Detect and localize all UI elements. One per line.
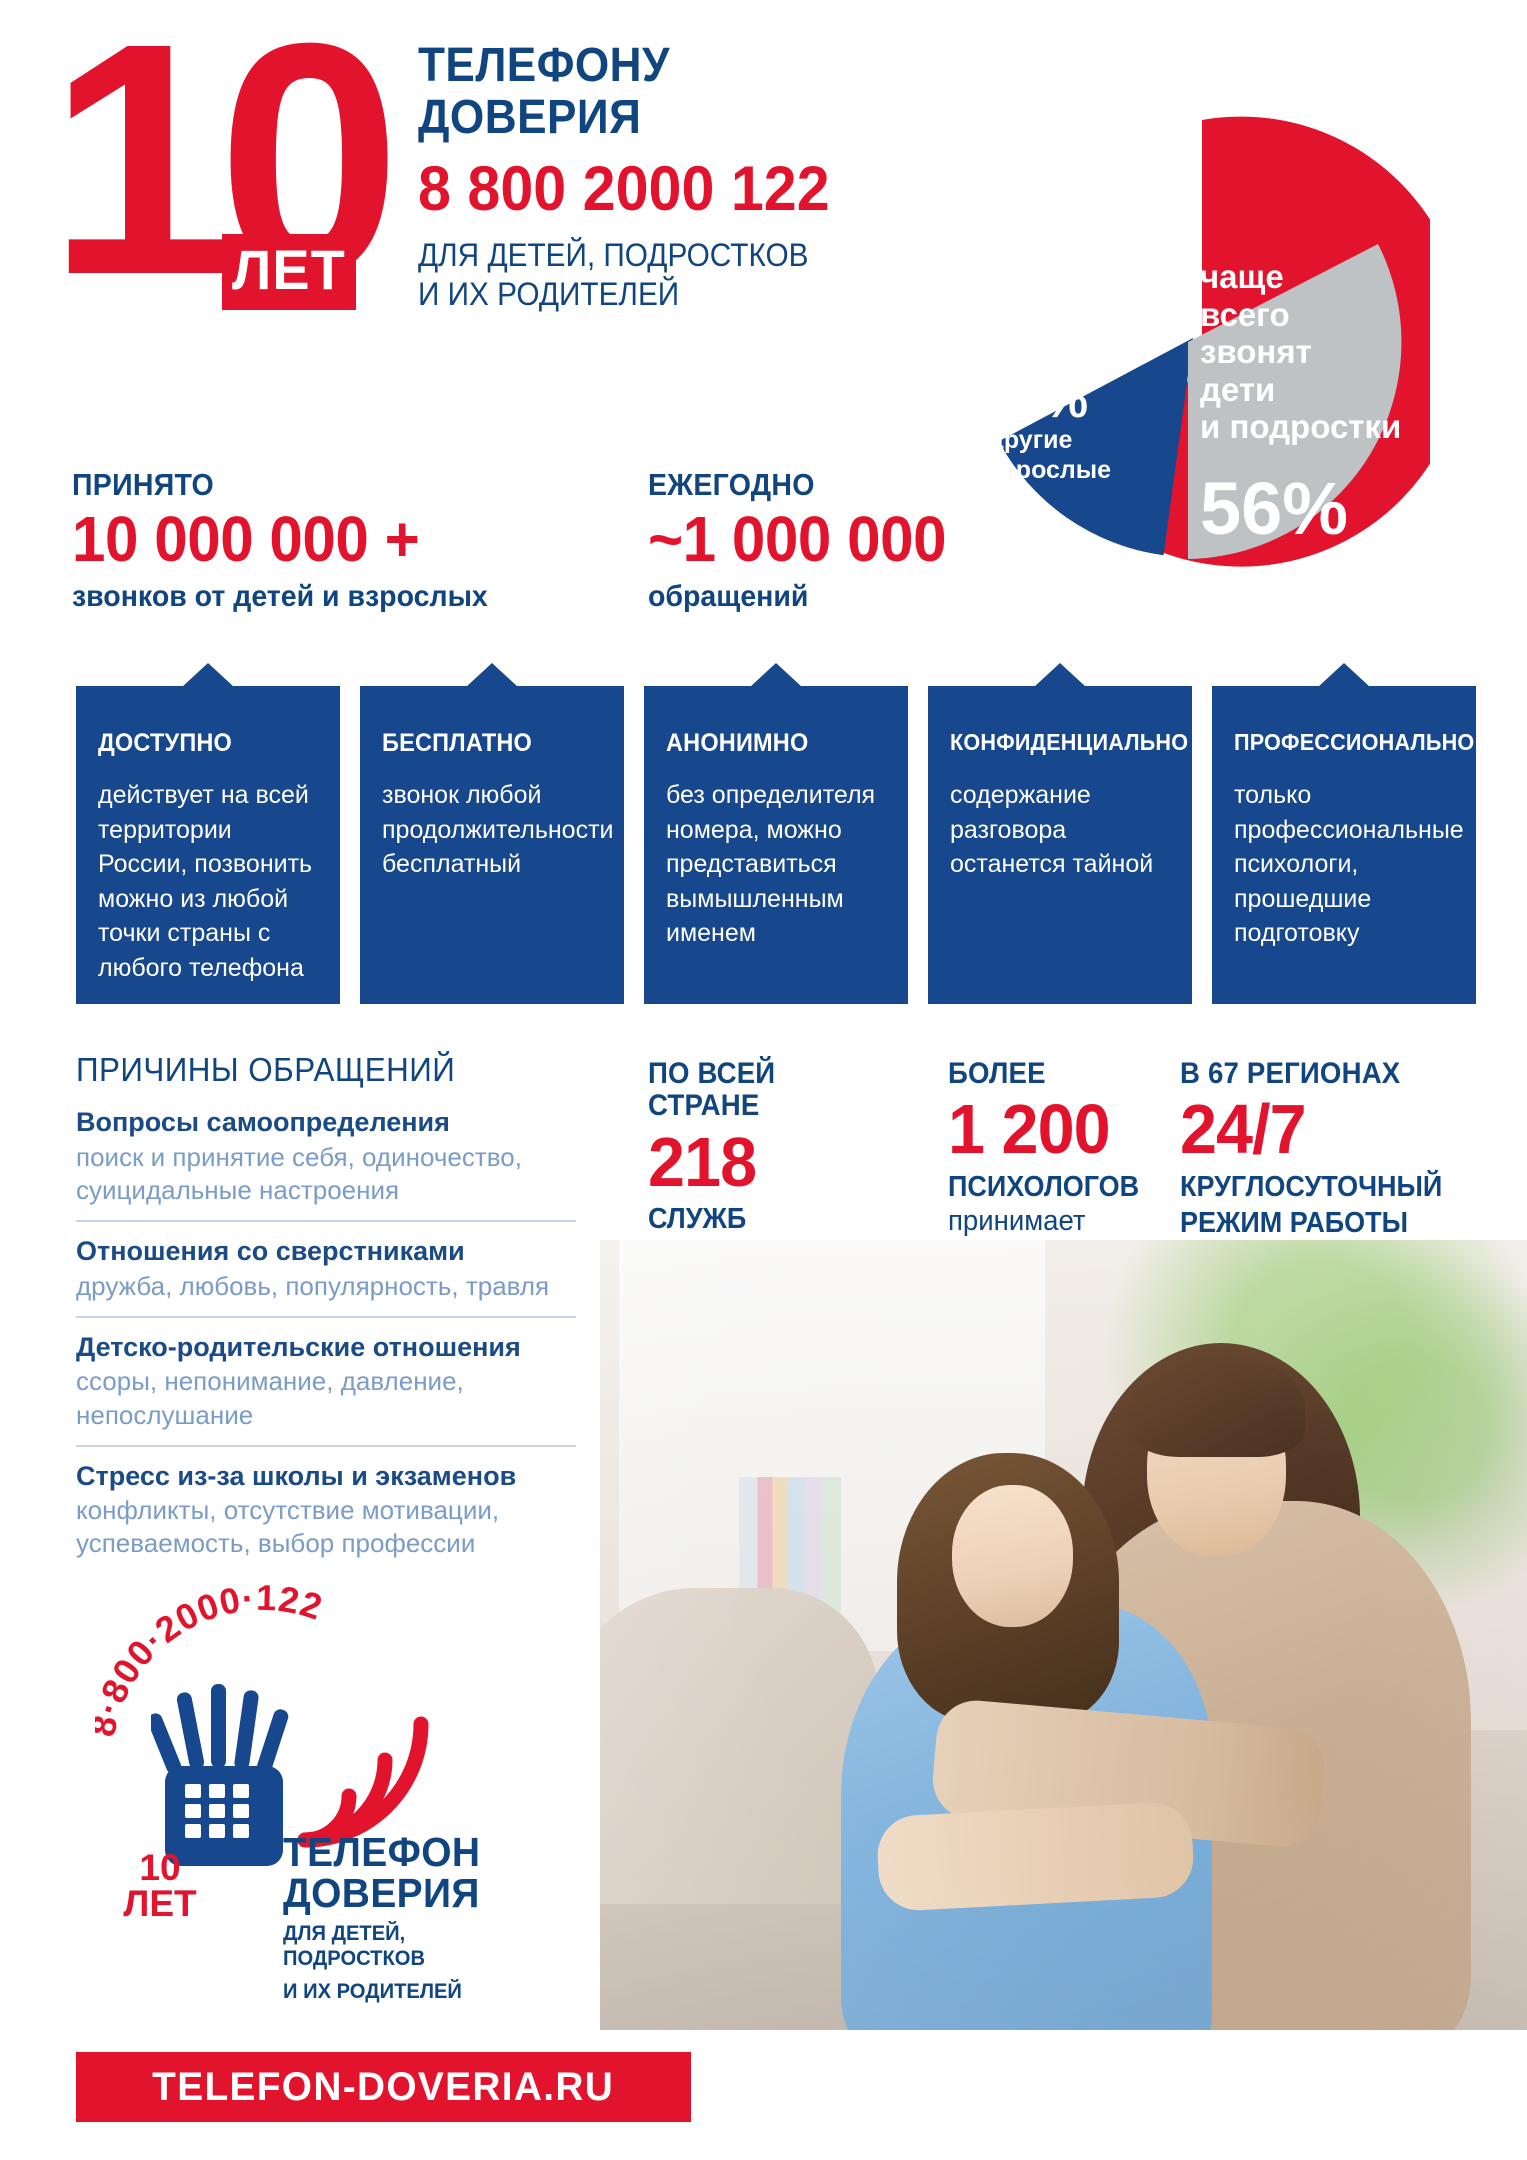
country-stat-availability: В 67 РЕГИОНАХ 24/7 КРУГЛОСУТОЧНЫЙ РЕЖИМ … <box>1180 1058 1470 1240</box>
feature-box-free: БЕСПЛАТНО звонок любой продолжительности… <box>360 686 624 1004</box>
reason-heading: Отношения со сверстниками <box>76 1235 576 1267</box>
pie-label-children-percent: 56% <box>1200 472 1401 546</box>
reason-heading: Стресс из-за школы и экзаменов <box>76 1460 576 1492</box>
country-stat-label: В 67 РЕГИОНАХ <box>1180 1058 1447 1090</box>
pie-label-children: чаще всего звонят дети и подростки 56% <box>1200 258 1401 546</box>
feature-title: БЕСПЛАТНО <box>382 730 596 758</box>
logo-anniversary-number: 10 <box>105 1850 215 1886</box>
stat-annual-requests-note: обращений <box>648 580 962 614</box>
country-stat-unit: СЛУЖБ <box>648 1202 890 1236</box>
logo-wordmark: ТЕЛЕФОН ДОВЕРИЯ ДЛЯ ДЕТЕЙ, ПОДРОСТКОВ И … <box>283 1832 523 2004</box>
list-item: Отношения со сверстниками дружба, любовь… <box>76 1220 576 1316</box>
feature-box-available: ДОСТУПНО действует на всей территории Ро… <box>76 686 340 1004</box>
pie-label-other-adults-percent: 27% <box>988 375 1111 425</box>
feature-title: АНОНИМНО <box>666 730 880 758</box>
pie-caption-line1: чаще <box>1200 258 1401 296</box>
feature-body: звонок любой продолжительности бесплатны… <box>382 778 606 882</box>
pie-caption-line2: всего <box>1200 296 1401 334</box>
pie-label-parents-percent: 17% <box>1040 218 1159 257</box>
feature-body: действует на всей территории России, поз… <box>98 778 322 985</box>
logo-tagline-line2: И ИХ РОДИТЕЛЕЙ <box>283 1980 513 2005</box>
country-stat-value: 24/7 <box>1180 1092 1456 1168</box>
reason-heading: Вопросы самоопределения <box>76 1106 576 1138</box>
logo-anniversary-badge: 10 ЛЕТ <box>105 1850 215 1923</box>
trust-line-logo: 8·800·2000·122 <box>95 1570 515 1970</box>
feature-box-confidential: КОНФИДЕНЦИАЛЬНО содержание разговора ост… <box>928 686 1192 1004</box>
country-stat-unit: КРУГЛОСУТОЧНЫЙ <box>1180 1170 1450 1204</box>
reason-heading: Детско-родительские отношения <box>76 1331 576 1363</box>
feature-title: ДОСТУПНО <box>98 730 312 758</box>
feature-body: только профессиональные психологи, проше… <box>1234 778 1458 951</box>
country-stat-detail-line1: РЕЖИМ РАБОТЫ <box>1180 1206 1450 1240</box>
country-stat-unit: ПСИХОЛОГОВ <box>948 1170 1162 1204</box>
website-url-text: TELEFON-DOVERIA.RU <box>152 2065 614 2110</box>
pie-label-other-adults: 27% другие взрослые <box>988 375 1111 484</box>
feature-body: содержание разговора останется тайной <box>950 778 1174 882</box>
logo-tagline-line1: ДЛЯ ДЕТЕЙ, ПОДРОСТКОВ <box>283 1922 513 1972</box>
feature-title: КОНФИДЕНЦИАЛЬНО <box>950 730 1164 755</box>
pie-label-parents: 17% родители <box>1040 218 1159 287</box>
stat-calls-accepted-note: звонков от детей и взрослых <box>72 580 604 614</box>
reason-detail: конфликты, отсутствие мотивации, успевае… <box>76 1494 576 1561</box>
feature-body: без определителя номера, можно представи… <box>666 778 890 951</box>
pie-label-other-adults-name-line1: другие <box>988 427 1111 455</box>
reasons-list-title: ПРИЧИНЫ ОБРАЩЕНИЙ <box>76 1052 551 1088</box>
stat-annual-requests: ЕЖЕГОДНО ~1 000 000 обращений <box>648 468 978 613</box>
pie-label-parents-name: родители <box>1040 259 1159 287</box>
pie-label-other-adults-name-line2: взрослые <box>988 457 1111 485</box>
country-stat-value: 218 <box>648 1125 895 1201</box>
anniversary-badge: 10 ЛЕТ <box>48 28 378 303</box>
website-url-banner[interactable]: TELEFON-DOVERIA.RU <box>76 2052 691 2122</box>
country-stat-value: 1 200 <box>948 1092 1167 1168</box>
pie-caption-line5: и подростки <box>1200 408 1401 446</box>
pie-caption-line4: дети <box>1200 371 1401 409</box>
triangle-notch-icon <box>466 663 518 687</box>
feature-title: ПРОФЕССИОНАЛЬНО <box>1234 730 1448 755</box>
header-title-line1: ТЕЛЕФОНУ <box>418 40 1062 92</box>
stat-calls-accepted-label: ПРИНЯТО <box>72 468 587 502</box>
stat-calls-accepted: ПРИНЯТО 10 000 000 + звонков от детей и … <box>72 468 632 613</box>
list-item: Детско-родительские отношения ссоры, неп… <box>76 1316 576 1445</box>
triangle-notch-icon <box>1034 663 1086 687</box>
poster-header: 10 ЛЕТ ТЕЛЕФОНУ ДОВЕРИЯ 8 800 2000 122 Д… <box>0 0 1527 420</box>
country-stat-label: БОЛЕЕ <box>948 1058 1160 1090</box>
reason-detail: ссоры, непонимание, давление, непослушан… <box>76 1365 576 1432</box>
triangle-notch-icon <box>182 663 234 687</box>
pie-caption-line3: звонят <box>1200 333 1401 371</box>
country-stat-detail-line1: принимает <box>948 1204 1167 1238</box>
reason-detail: дружба, любовь, популярность, травля <box>76 1270 576 1303</box>
anniversary-years-word: ЛЕТ <box>222 234 356 310</box>
feature-box-professional: ПРОФЕССИОНАЛЬНО только профессиональные … <box>1212 686 1476 1004</box>
logo-word-line1: ТЕЛЕФОН <box>283 1832 511 1873</box>
logo-anniversary-word: ЛЕТ <box>105 1886 215 1922</box>
photo-vignette <box>600 1240 1527 2030</box>
stat-annual-requests-value: ~1 000 000 <box>648 504 958 576</box>
reasons-list: ПРИЧИНЫ ОБРАЩЕНИЙ Вопросы самоопределени… <box>76 1052 576 1574</box>
feature-boxes: ДОСТУПНО действует на всей территории Ро… <box>76 662 1456 1002</box>
stat-annual-requests-label: ЕЖЕГОДНО <box>648 468 952 502</box>
poster-root: 10 ЛЕТ ТЕЛЕФОНУ ДОВЕРИЯ 8 800 2000 122 Д… <box>0 0 1527 2160</box>
triangle-notch-icon <box>1318 663 1370 687</box>
reason-detail: поиск и принятие себя, одиночество, суиц… <box>76 1141 576 1208</box>
triangle-notch-icon <box>750 663 802 687</box>
feature-box-anonymous: АНОНИМНО без определителя номера, можно … <box>644 686 908 1004</box>
list-item: Вопросы самоопределения поиск и принятие… <box>76 1106 576 1220</box>
stat-calls-accepted-value: 10 000 000 + <box>72 504 598 576</box>
country-stat-label: ПО ВСЕЙ СТРАНЕ <box>648 1058 887 1123</box>
logo-word-line2: ДОВЕРИЯ <box>283 1873 511 1914</box>
list-item: Стресс из-за школы и экзаменов конфликты… <box>76 1445 576 1574</box>
mother-and-daughter-photo <box>600 1240 1527 2030</box>
